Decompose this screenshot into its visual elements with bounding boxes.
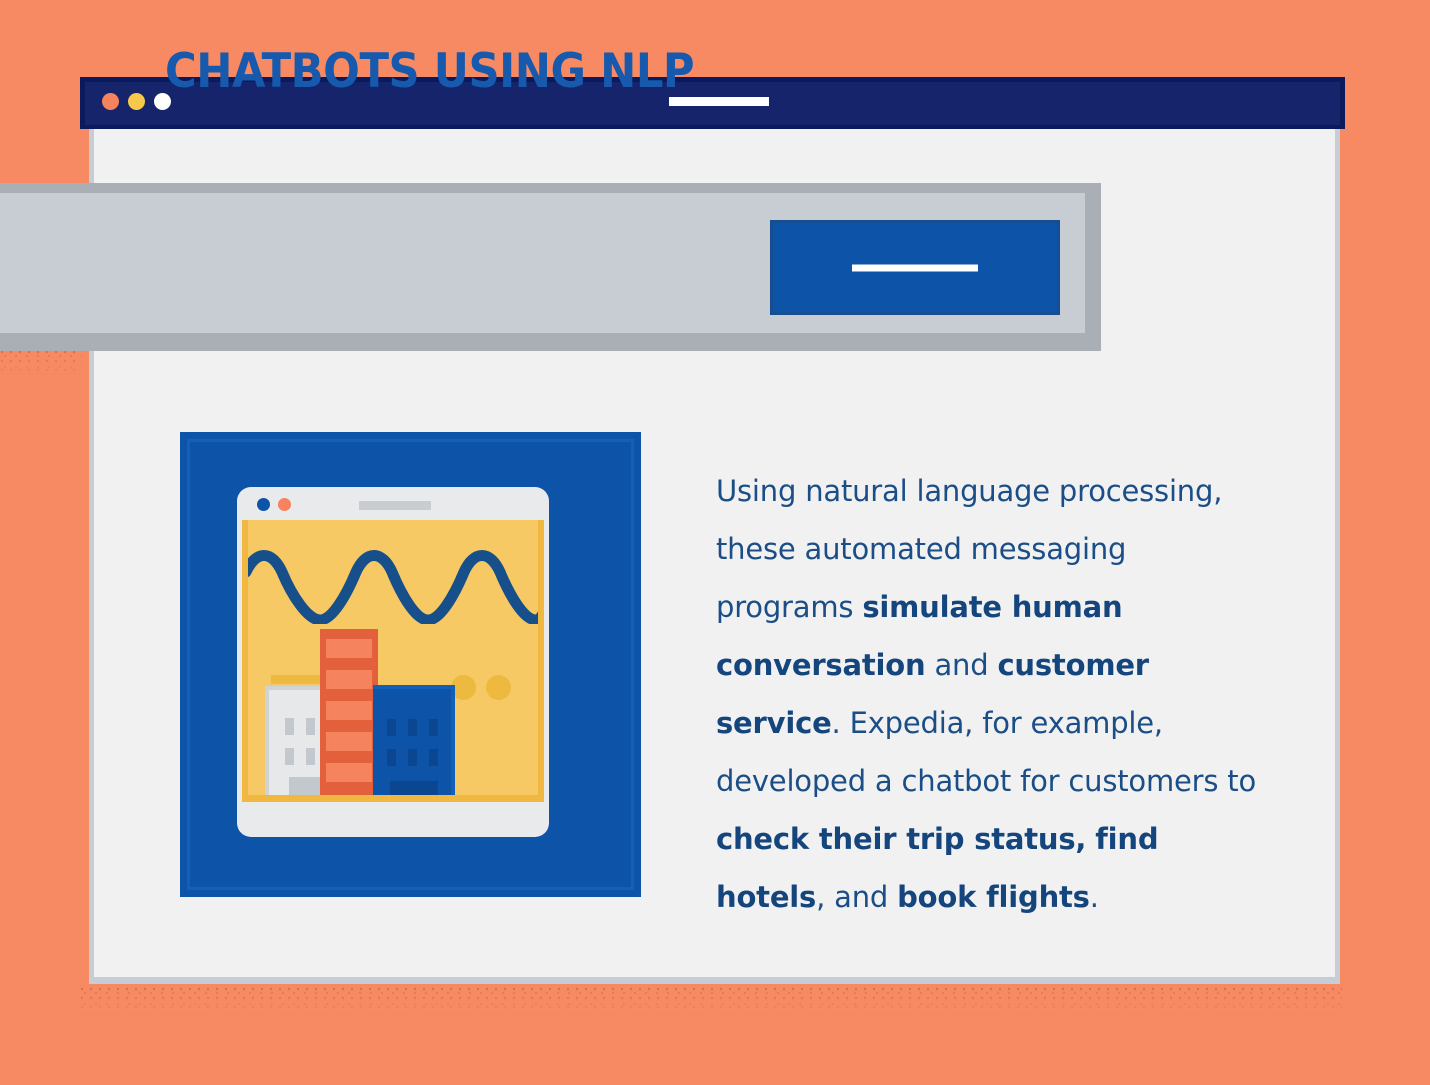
building-orange bbox=[320, 629, 378, 795]
window-drop-shadow-texture bbox=[80, 987, 1342, 1017]
banner-drop-shadow-texture bbox=[0, 350, 82, 378]
window-pane bbox=[285, 718, 294, 735]
building-base bbox=[390, 781, 438, 795]
window-pane bbox=[429, 719, 438, 736]
close-dot-icon[interactable] bbox=[102, 93, 119, 110]
body-paragraph: Using natural language processing, these… bbox=[716, 462, 1261, 926]
mini-dot-blue-icon bbox=[257, 498, 270, 511]
mini-browser-titlebar bbox=[237, 487, 549, 520]
mini-dot-coral-icon bbox=[278, 498, 291, 511]
window-pane bbox=[306, 748, 315, 765]
window-pane bbox=[306, 718, 315, 735]
primary-action-button[interactable] bbox=[770, 220, 1060, 315]
page-title: CHATBOTS USING NLP bbox=[165, 44, 694, 99]
mini-address-bar bbox=[359, 501, 431, 510]
mini-browser-window bbox=[237, 487, 549, 837]
building-floor bbox=[326, 763, 372, 782]
window-pane bbox=[429, 749, 438, 766]
window-pane bbox=[408, 719, 417, 736]
window-traffic-lights[interactable] bbox=[102, 93, 171, 110]
window-pane bbox=[408, 749, 417, 766]
sine-wave-icon bbox=[246, 548, 544, 624]
window-pane bbox=[285, 748, 294, 765]
minimize-dot-icon[interactable] bbox=[128, 93, 145, 110]
building-floor bbox=[326, 670, 372, 689]
building-blue bbox=[373, 685, 455, 795]
emphasis-text: book flights bbox=[897, 880, 1090, 914]
building-floor bbox=[326, 732, 372, 751]
window-pane bbox=[387, 719, 396, 736]
building-floor bbox=[326, 701, 372, 720]
mini-traffic-lights bbox=[257, 498, 291, 511]
building-floor bbox=[326, 639, 372, 658]
button-label-placeholder-bar bbox=[852, 264, 978, 271]
mini-browser-canvas bbox=[242, 520, 544, 802]
emphasis-text: check their trip status, bbox=[716, 822, 1086, 856]
buildings-group bbox=[254, 625, 532, 795]
window-pane bbox=[387, 749, 396, 766]
